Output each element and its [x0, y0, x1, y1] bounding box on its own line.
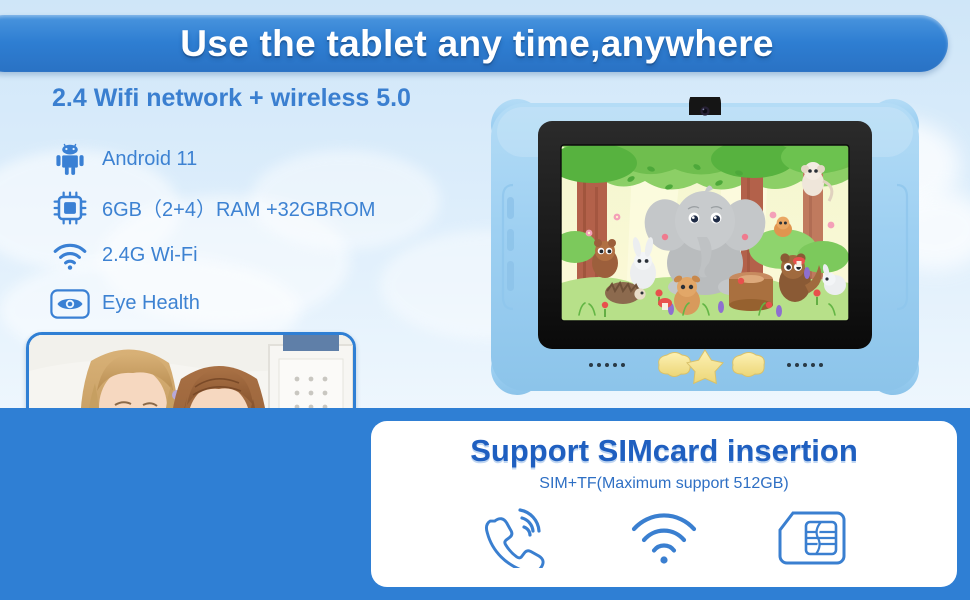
feature-item-android: Android 11 [46, 136, 466, 183]
feature-item-wifi: 2.4G Wi-Fi [46, 232, 466, 279]
feature-list: Android 11 6GB（2+4）RAM +32GBROM [46, 136, 466, 328]
subtitle-text: 2.4 Wifi network + wireless 5.0 [52, 84, 411, 113]
feature-label: Eye Health [102, 292, 200, 315]
cpu-chip-icon [46, 187, 94, 229]
product-infographic: Use the tablet any time,anywhere 2.4 Wif… [0, 0, 970, 600]
feature-item-eye-health: Eye Health [46, 280, 466, 327]
feature-label: 2.4G Wi-Fi [102, 244, 198, 267]
wifi-icon [46, 235, 94, 277]
cloud-button [659, 353, 691, 377]
kids-tablet-device [483, 97, 927, 397]
sim-card-icon [772, 507, 850, 569]
sim-support-panel: Support SIMcard insertion SIM+TF(Maximum… [371, 421, 957, 587]
wifi-signal-icon [625, 507, 703, 569]
sim-panel-subtitle: SIM+TF(Maximum support 512GB) [539, 475, 788, 493]
feature-item-ram: 6GB（2+4）RAM +32GBROM [46, 184, 466, 231]
feature-label: Android 11 [102, 148, 197, 171]
feature-label: 6GB（2+4）RAM +32GBROM [102, 193, 375, 222]
headline-banner: Use the tablet any time,anywhere [0, 15, 948, 72]
front-camera-icon [689, 97, 721, 116]
tablet-screen-wallpaper [549, 140, 849, 321]
phone-call-icon [478, 507, 556, 569]
cloud-button [733, 353, 765, 377]
android-icon [46, 139, 94, 181]
headline-text: Use the tablet any time,anywhere [180, 23, 774, 65]
eye-icon [46, 283, 94, 325]
sim-panel-title: Support SIMcard insertion [470, 433, 858, 469]
sim-panel-icon-row [371, 507, 957, 569]
